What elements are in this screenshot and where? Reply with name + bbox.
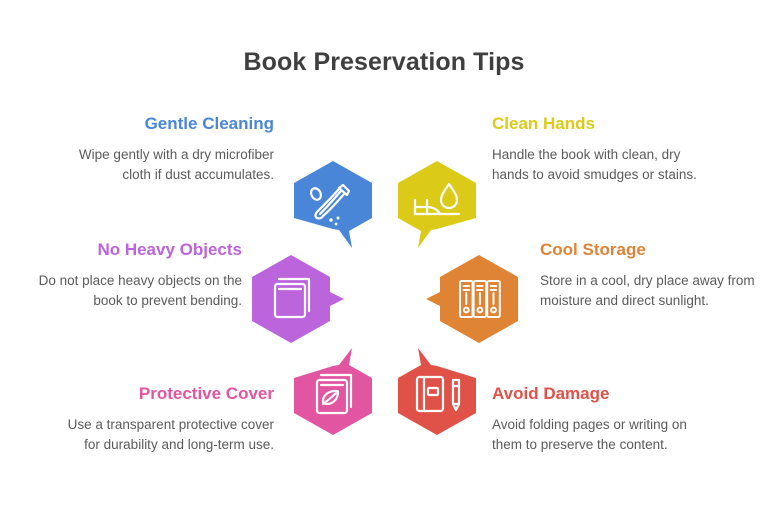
tip-description-gentle-cleaning: Wipe gently with a dry microfiber cloth … [58,145,274,185]
tip-block-protective-cover: Protective Cover Use a transparent prote… [58,384,274,455]
hex-badge-gentle-cleaning[interactable] [289,160,377,252]
tip-title-gentle-cleaning: Gentle Cleaning [58,114,274,134]
hex-badge-no-heavy-objects[interactable] [247,253,335,345]
tip-title-no-heavy-objects: No Heavy Objects [26,240,242,260]
infographic-canvas: Book Preservation Tips [0,0,768,528]
tip-title-avoid-damage: Avoid Damage [492,384,708,404]
tip-block-gentle-cleaning: Gentle Cleaning Wipe gently with a dry m… [58,114,274,185]
tip-title-clean-hands: Clean Hands [492,114,708,134]
tip-block-avoid-damage: Avoid Damage Avoid folding pages or writ… [492,384,708,455]
hex-badge-cool-storage[interactable] [435,253,523,345]
shelved-binders-icon [460,281,500,317]
tip-description-cool-storage: Store in a cool, dry place away from moi… [540,271,756,311]
hexagon-icon-cluster [247,160,523,445]
tip-description-no-heavy-objects: Do not place heavy objects on the book t… [26,271,242,311]
tip-block-cool-storage: Cool Storage Store in a cool, dry place … [540,240,756,311]
page-title: Book Preservation Tips [0,48,768,77]
tip-block-clean-hands: Clean Hands Handle the book with clean, … [492,114,708,185]
hex-badge-avoid-damage[interactable] [393,344,481,436]
hex-badge-clean-hands[interactable] [393,160,481,252]
tip-description-clean-hands: Handle the book with clean, dry hands to… [492,145,708,185]
tip-title-cool-storage: Cool Storage [540,240,756,260]
tip-title-protective-cover: Protective Cover [58,384,274,404]
tip-description-protective-cover: Use a transparent protective cover for d… [58,415,274,455]
hex-badge-protective-cover[interactable] [289,344,377,436]
tip-block-no-heavy-objects: No Heavy Objects Do not place heavy obje… [26,240,242,311]
tip-description-avoid-damage: Avoid folding pages or writing on them t… [492,415,708,455]
